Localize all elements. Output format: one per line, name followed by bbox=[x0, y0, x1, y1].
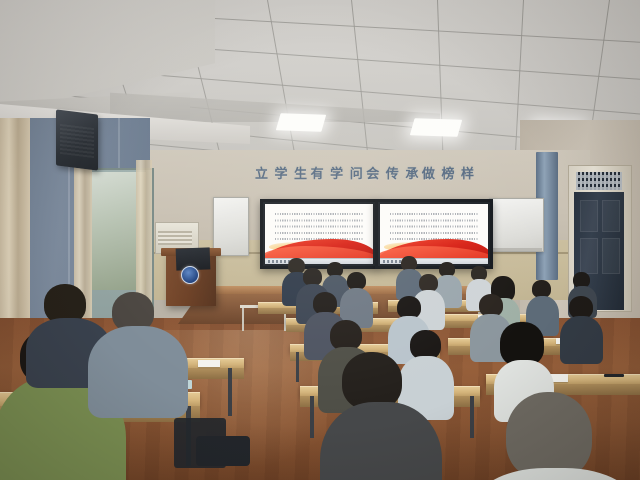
whiteboard-tray bbox=[489, 248, 542, 251]
pen-on-desk bbox=[604, 374, 624, 377]
desk-leg bbox=[470, 396, 474, 438]
slide-body-text-left bbox=[275, 212, 364, 240]
banner-group-2: 有 学 问 bbox=[311, 163, 364, 182]
bag-on-desk bbox=[196, 436, 250, 466]
banner-group-1: 立 学 生 bbox=[255, 163, 308, 182]
curtain-far bbox=[136, 160, 152, 310]
display-left[interactable] bbox=[260, 199, 378, 269]
banner-group-3: 会 传 承 bbox=[366, 163, 419, 182]
lattice-grille-icon bbox=[576, 172, 622, 190]
taskbar-right[interactable] bbox=[380, 258, 488, 264]
led-panel-2-icon bbox=[410, 118, 462, 137]
wall-calligraphy-banner: 立 学 生 有 学 问 会 传 承 做 榜 样 bbox=[255, 160, 475, 184]
led-panel-1-icon bbox=[276, 113, 326, 132]
slide-content-left bbox=[265, 204, 373, 264]
torso bbox=[560, 316, 603, 364]
speaker-grille-icon bbox=[60, 124, 94, 158]
banner-group-4: 做 榜 样 bbox=[422, 163, 475, 182]
curtain-left bbox=[0, 118, 30, 348]
podium-emblem-icon bbox=[181, 266, 199, 284]
whiteboard-right bbox=[489, 198, 544, 252]
slide-content-right bbox=[380, 204, 488, 264]
slide-body-text-right bbox=[390, 212, 479, 240]
paper-on-desk-4 bbox=[198, 360, 220, 367]
desk-leg bbox=[310, 396, 314, 438]
desk-leg bbox=[228, 368, 232, 416]
lecture-room-photo: 立 学 生 有 学 问 会 传 承 做 榜 样 bbox=[0, 0, 640, 480]
desk-leg bbox=[296, 352, 299, 382]
torso bbox=[88, 326, 188, 418]
display-right[interactable] bbox=[375, 199, 493, 269]
head bbox=[506, 392, 592, 480]
taskbar-left[interactable] bbox=[265, 258, 373, 264]
ac-louvers-icon bbox=[158, 231, 192, 245]
